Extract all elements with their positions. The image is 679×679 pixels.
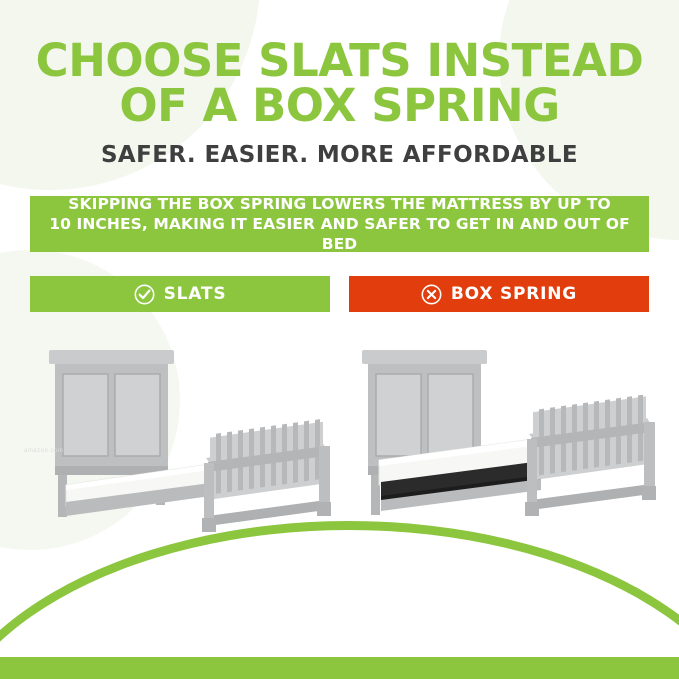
check-circle-icon <box>134 284 155 305</box>
box-spring-label-text: BOX SPRING <box>451 284 577 304</box>
headline: CHOOSE SLATS INSTEAD OF A BOX SPRING <box>0 38 679 128</box>
slats-bed-illustration: amazon.com <box>22 330 332 570</box>
box-spring-bed-svg <box>335 330 665 570</box>
message-band: SKIPPING THE BOX SPRING LOWERS THE MATTR… <box>30 196 649 252</box>
headline-line-2: OF A BOX SPRING <box>0 83 679 128</box>
poster-root: CHOOSE SLATS INSTEAD OF A BOX SPRING SAF… <box>0 0 679 679</box>
slats-bed-svg <box>22 330 332 570</box>
box-spring-label-bar: BOX SPRING <box>349 276 649 312</box>
message-band-line-1: SKIPPING THE BOX SPRING LOWERS THE MATTR… <box>30 194 649 214</box>
background-bottom-bar <box>0 657 679 679</box>
x-circle-icon <box>421 284 442 305</box>
box-spring-bed-illustration <box>335 330 665 570</box>
subheadline: SAFER. EASIER. MORE AFFORDABLE <box>0 142 679 168</box>
watermark-left: amazon.com <box>24 448 63 454</box>
slats-label-text: SLATS <box>164 284 227 304</box>
footboard-slats <box>202 419 331 532</box>
footboard-slats <box>525 395 656 516</box>
slats-label-bar: SLATS <box>30 276 330 312</box>
message-band-line-2: 10 INCHES, MAKING IT EASIER AND SAFER TO… <box>30 214 649 254</box>
